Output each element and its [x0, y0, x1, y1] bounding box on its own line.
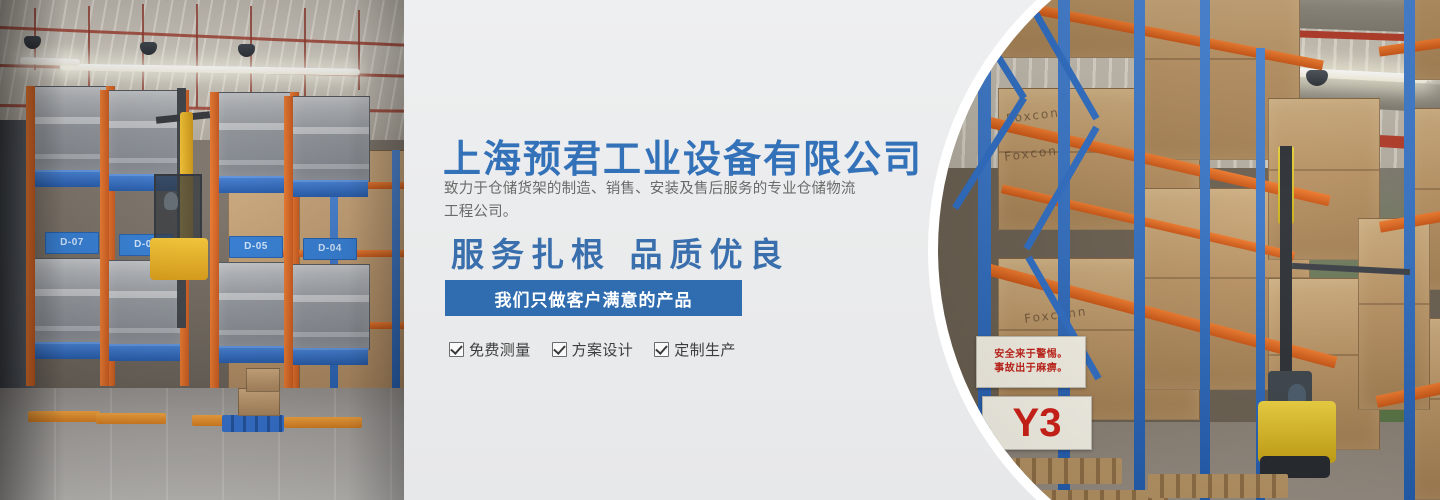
rack-upright-orange — [100, 90, 109, 386]
rack-upright-blue — [1200, 0, 1210, 500]
floor-carton — [238, 388, 280, 416]
left-warehouse-photo: D-07 D-06 D-05 — [0, 0, 404, 500]
reach-truck — [1258, 146, 1418, 486]
forklift-body — [1258, 401, 1336, 463]
aisle-sign-left: Y3 — [982, 396, 1092, 450]
forklift-cab — [154, 174, 202, 244]
rack-base-foot — [28, 411, 100, 422]
warehouse-floor — [0, 388, 404, 500]
blue-pallet — [222, 415, 284, 432]
wooden-pallet — [972, 458, 1122, 484]
forklift-operator — [164, 192, 178, 210]
reach-truck — [150, 88, 212, 328]
rack-beam-blue — [290, 348, 368, 365]
rack-upright-orange — [284, 96, 293, 388]
checkbox-checked-icon — [654, 342, 669, 357]
rack-base-foot — [284, 417, 362, 428]
company-description: 致力于仓储货架的制造、销售、安装及售后服务的专业仓储物流工程公司。 — [444, 178, 869, 224]
wooden-pallet — [1148, 474, 1288, 498]
right-photo-scene: Foxconn Foxconn Foxconn Foxconn Foxconn — [938, 0, 1440, 500]
rack-location-label: D-04 — [303, 238, 357, 260]
checkbox-checked-icon — [449, 342, 464, 357]
rack-location-label: D-07 — [45, 232, 99, 254]
ceiling-hanger — [88, 6, 90, 88]
rack-beam-blue — [216, 346, 294, 363]
feature-item-scheme-design[interactable]: 方案设计 — [552, 339, 634, 360]
rack-beam-blue — [216, 176, 294, 193]
rack-location-label: D-05 — [229, 236, 283, 258]
right-photo-wrap: Foxconn Foxconn Foxconn Foxconn Foxconn — [928, 0, 1440, 500]
palletised-load — [290, 96, 370, 182]
rack-beam-blue — [106, 344, 184, 361]
safety-sign-line-1: 安全来于警惕。 — [994, 348, 1068, 362]
feature-item-free-measurement[interactable]: 免费测量 — [449, 339, 531, 360]
forklift-body — [150, 238, 208, 280]
rack-beam-blue — [290, 180, 368, 197]
feature-label: 免费测量 — [469, 339, 531, 360]
floor-carton — [246, 368, 280, 392]
checkbox-checked-icon — [552, 342, 567, 357]
rack-base-foot — [96, 413, 166, 424]
rack-upright-orange — [26, 86, 35, 386]
wooden-pallet — [1008, 490, 1168, 500]
cta-button[interactable]: 我们只做客户满意的产品 — [445, 280, 742, 316]
feature-label: 方案设计 — [572, 339, 634, 360]
banner-copy: 上海预君工业设备有限公司 致力于仓储货架的制造、销售、安装及售后服务的专业仓储物… — [443, 0, 913, 500]
company-headline: 上海预君工业设备有限公司 — [443, 128, 923, 183]
rack-beam-blue — [32, 342, 110, 359]
palletised-load — [290, 264, 370, 350]
rack-beam-blue — [32, 170, 110, 187]
right-warehouse-photo: Foxconn Foxconn Foxconn Foxconn Foxconn — [938, 0, 1440, 500]
ceiling-hanger — [304, 8, 306, 100]
rack-upright-blue — [1134, 0, 1145, 500]
ceiling-hanger — [358, 10, 360, 90]
feature-label: 定制生产 — [674, 339, 736, 360]
safety-sign-line-2: 事故出于麻痹。 — [994, 362, 1068, 376]
forklift-arm — [1292, 263, 1410, 275]
left-photo-scene: D-07 D-06 D-05 — [0, 0, 404, 500]
feature-list: 免费测量 方案设计 定制生产 — [449, 339, 736, 360]
hero-banner: D-07 D-06 D-05 — [0, 0, 1440, 500]
safety-sign: 安全来于警惕。 事故出于麻痹。 — [976, 336, 1086, 388]
company-slogan: 服务扎根 品质优良 — [451, 228, 790, 276]
rack-upright-blue — [392, 150, 400, 412]
feature-item-custom-production[interactable]: 定制生产 — [654, 339, 736, 360]
